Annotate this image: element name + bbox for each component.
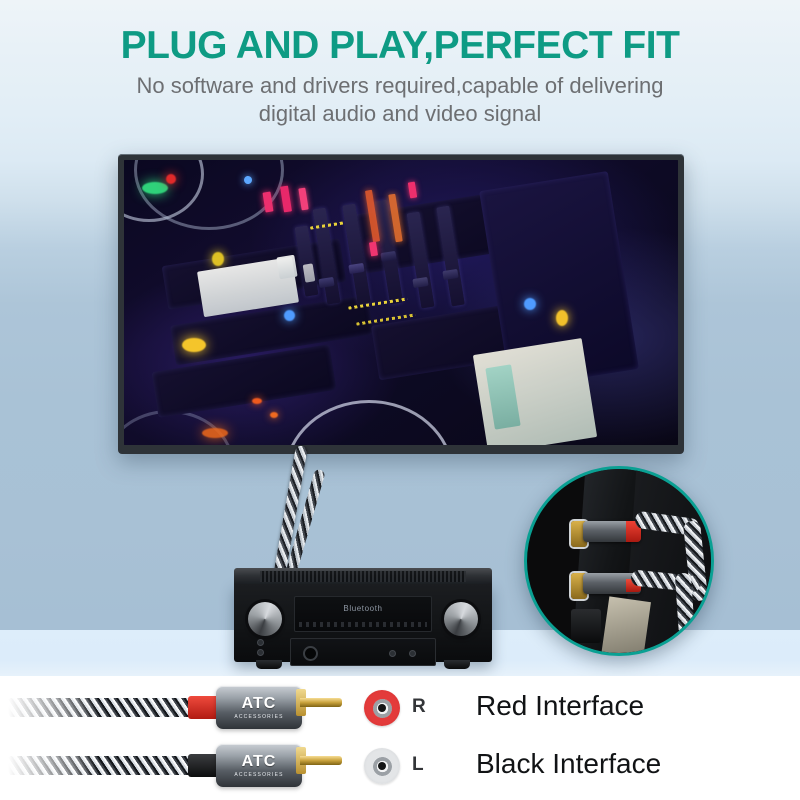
television bbox=[118, 154, 684, 454]
interface-label-red: Red Interface bbox=[476, 690, 644, 722]
socket-icon-red bbox=[364, 690, 400, 726]
channel-label-r: R bbox=[412, 696, 438, 718]
brand-logo-text: ATC bbox=[216, 695, 302, 713]
tv-screen bbox=[124, 160, 678, 445]
connector-pin-black bbox=[300, 756, 342, 765]
socket-hole-red bbox=[378, 704, 386, 712]
product-infographic: PLUG AND PLAY,PERFECT FIT No software an… bbox=[0, 0, 800, 800]
receiver-display: Bluetooth bbox=[294, 596, 432, 632]
receiver-vents bbox=[260, 571, 466, 582]
cable-legend: ATC ACCESSORIES R Red Interface ATC ACCE… bbox=[0, 676, 800, 800]
socket-hole-black bbox=[378, 762, 386, 770]
device-antenna-connector bbox=[571, 609, 601, 643]
receiver-lower-panel bbox=[290, 638, 436, 666]
zoom-callout-circle bbox=[524, 466, 714, 656]
legend-row-red: ATC ACCESSORIES R Red Interface bbox=[0, 680, 800, 736]
connector-pin-red bbox=[300, 698, 342, 707]
braided-cable-red bbox=[8, 698, 193, 717]
receiver-foot-right bbox=[444, 660, 470, 669]
legend-row-black: ATC ACCESSORIES L Black Interface bbox=[0, 738, 800, 794]
receiver-front-panel: Bluetooth bbox=[234, 584, 492, 662]
socket-inner-ring-red bbox=[373, 699, 392, 718]
receiver-aux-port bbox=[410, 651, 415, 656]
receiver-usb-port bbox=[390, 651, 395, 656]
receiver-foot-left bbox=[256, 660, 282, 669]
rca-connector-red: ATC ACCESSORIES bbox=[216, 686, 302, 729]
socket-inner-ring-black bbox=[373, 757, 392, 776]
page-headline: PLUG AND PLAY,PERFECT FIT bbox=[0, 24, 800, 68]
receiver-display-text: Bluetooth bbox=[295, 604, 431, 613]
receiver-headphone-jack bbox=[305, 648, 316, 659]
av-receiver: Bluetooth bbox=[234, 568, 492, 672]
subtitle-line-1: No software and drivers required,capable… bbox=[0, 72, 800, 100]
receiver-button-2 bbox=[258, 650, 263, 655]
dj-mixer-image bbox=[124, 160, 678, 445]
receiver-display-indicators bbox=[299, 622, 427, 627]
braided-cable-black bbox=[8, 756, 193, 775]
interface-label-black: Black Interface bbox=[476, 748, 661, 780]
device-label-sticker bbox=[601, 596, 651, 656]
page-subtitle: No software and drivers required,capable… bbox=[0, 72, 800, 128]
rca-plug-right bbox=[583, 521, 641, 542]
subtitle-line-2: digital audio and video signal bbox=[0, 100, 800, 128]
receiver-volume-knob bbox=[444, 602, 478, 636]
brand-sub-text: ACCESSORIES bbox=[216, 714, 302, 720]
channel-label-l: L bbox=[412, 754, 438, 776]
brand-logo-text: ATC bbox=[216, 753, 302, 771]
socket-icon-black bbox=[364, 748, 400, 784]
receiver-input-knob bbox=[248, 602, 282, 636]
receiver-button-1 bbox=[258, 640, 263, 645]
rca-connector-black: ATC ACCESSORIES bbox=[216, 744, 302, 787]
brand-sub-text: ACCESSORIES bbox=[216, 772, 302, 778]
